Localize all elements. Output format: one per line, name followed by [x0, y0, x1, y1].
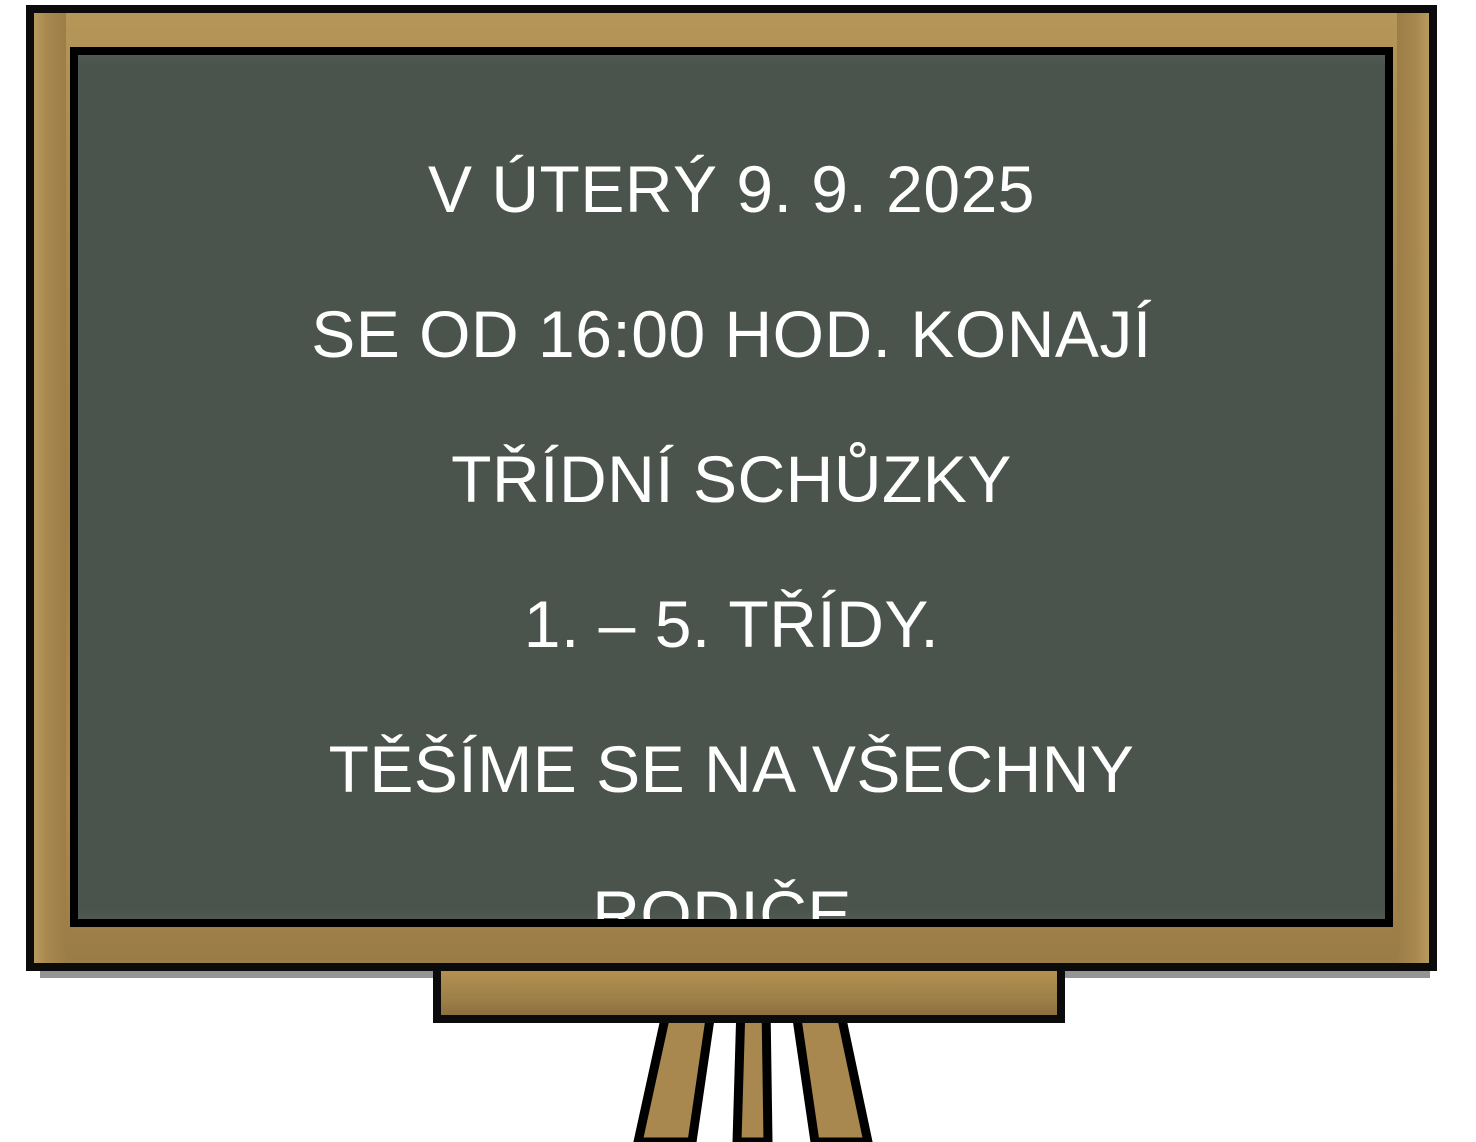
announcement-text: V ÚTERÝ 9. 9. 2025 SE OD 16:00 HOD. KONA…	[78, 117, 1385, 919]
announcement-line-6: RODIČE.	[592, 842, 871, 919]
announcement-line-5: TĚŠÍME SE NA VŠECHNY	[329, 697, 1135, 842]
board-wood-frame: V ÚTERÝ 9. 9. 2025 SE OD 16:00 HOD. KONA…	[34, 13, 1429, 963]
announcement-line-2: SE OD 16:00 HOD. KONAJÍ	[311, 262, 1151, 407]
chalk-tray	[433, 963, 1065, 1023]
announcement-line-3: TŘÍDNÍ SCHŮZKY	[451, 407, 1012, 552]
announcement-line-1: V ÚTERÝ 9. 9. 2025	[428, 117, 1035, 262]
announcement-line-4: 1. – 5. TŘÍDY.	[524, 552, 939, 697]
chalk-surface: V ÚTERÝ 9. 9. 2025 SE OD 16:00 HOD. KONA…	[78, 55, 1385, 919]
chalk-tray-face	[441, 971, 1057, 1015]
chalkboard: V ÚTERÝ 9. 9. 2025 SE OD 16:00 HOD. KONA…	[26, 5, 1437, 971]
easel-leg-left	[638, 1005, 712, 1142]
easel-leg-right	[795, 1005, 868, 1142]
board-inner-rule: V ÚTERÝ 9. 9. 2025 SE OD 16:00 HOD. KONA…	[70, 47, 1393, 927]
chalkboard-poster: V ÚTERÝ 9. 9. 2025 SE OD 16:00 HOD. KONA…	[0, 0, 1476, 1142]
easel-leg-center	[737, 1005, 768, 1142]
